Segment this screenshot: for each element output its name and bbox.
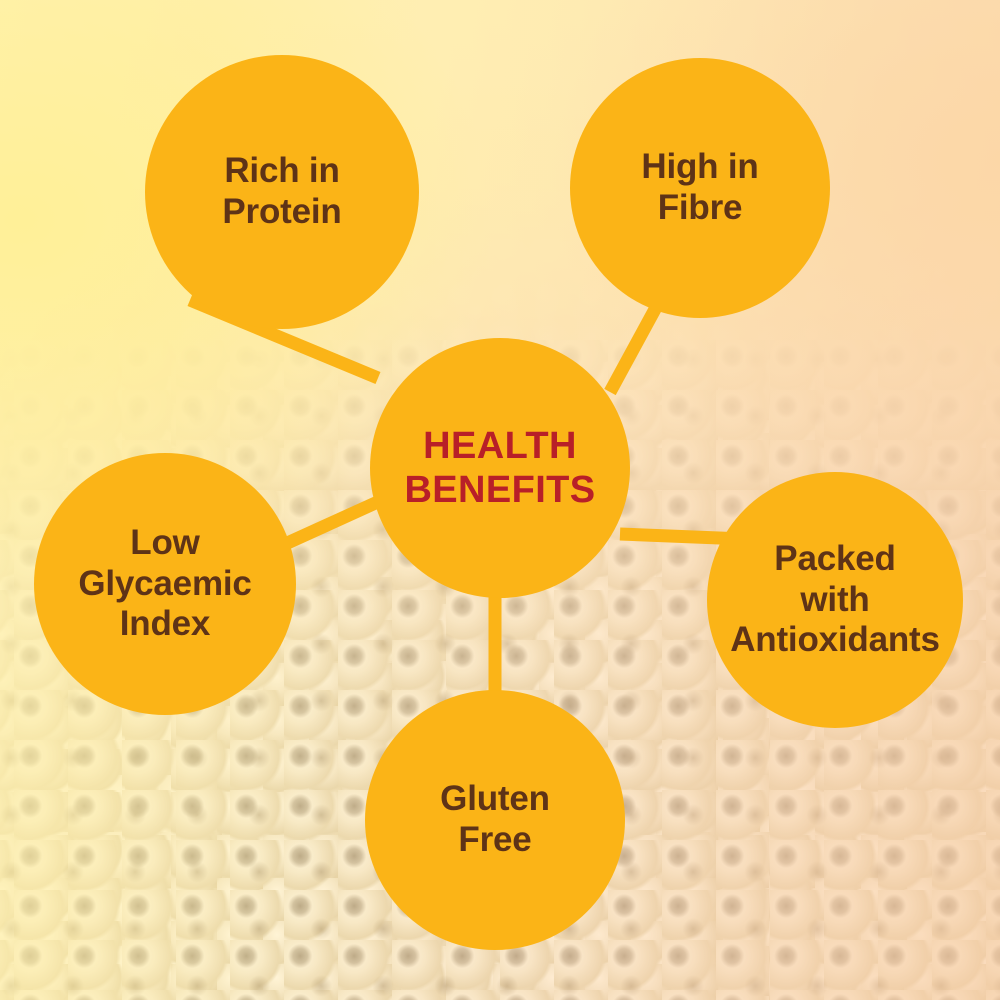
infographic-canvas: Rich inProteinHigh inFibreLowGlycaemicIn… (0, 0, 1000, 1000)
health-benefits-diagram (0, 0, 1000, 1000)
benefit-bubbles (34, 55, 963, 950)
connector-center-to-high-in-fibre (610, 300, 660, 392)
bubble-rich-in-protein[interactable] (145, 55, 419, 329)
bubble-low-glycaemic-index[interactable] (34, 453, 296, 715)
bubble-health-benefits[interactable] (370, 338, 630, 598)
bubble-gluten-free[interactable] (365, 690, 625, 950)
bubble-packed-with-antioxidants[interactable] (707, 472, 963, 728)
bubble-high-in-fibre[interactable] (570, 58, 830, 318)
